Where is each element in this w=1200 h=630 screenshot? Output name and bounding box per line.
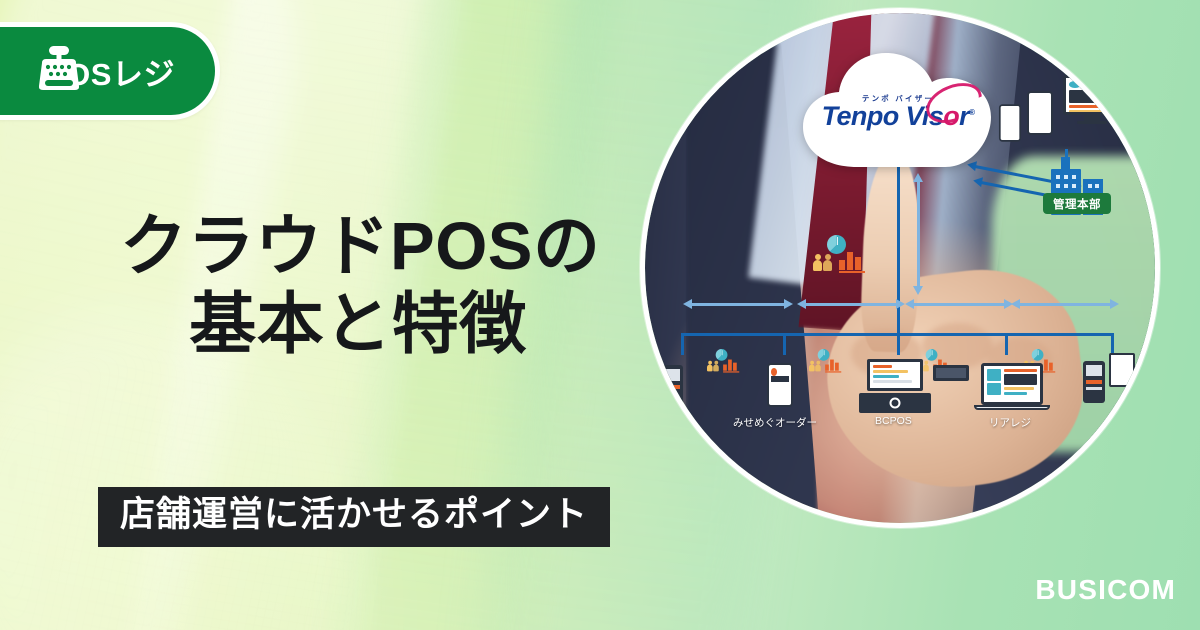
- hero-photo-circle: 管理本部: [640, 8, 1160, 528]
- diagram-trunk-line: [897, 163, 900, 335]
- device-customer-display: [933, 365, 969, 381]
- diagram-arrow-v: [917, 181, 920, 287]
- device-handheld-left: [661, 365, 683, 405]
- bar-chart-icon: [839, 251, 865, 273]
- diagram-drop-2: [783, 333, 786, 355]
- page-title-line-2: 基本と特徴: [120, 286, 640, 364]
- device-receipt-printer: [1109, 353, 1135, 387]
- hq-group: 管理本部: [1043, 141, 1111, 215]
- device-smartphone-hq-2: [1027, 91, 1053, 135]
- people-icon: [813, 253, 837, 271]
- cash-register-icon: [33, 46, 85, 96]
- bar-chart-icon: [825, 359, 841, 373]
- device-smartphone-hq-1: [999, 104, 1021, 141]
- stats-icon-cluster-main: [813, 235, 867, 275]
- page-title: クラウドPOSの 基本と特徴: [120, 208, 640, 363]
- people-icon: [809, 360, 824, 371]
- diagram-arrow-h-1: [691, 303, 785, 306]
- stats-icon-cluster-1: [707, 349, 740, 374]
- device-desktop-monitor-hq: [1063, 75, 1121, 124]
- device-laptop-real-register: [981, 363, 1050, 410]
- registered-mark: ®: [969, 108, 974, 117]
- hq-label: 管理本部: [1043, 193, 1111, 214]
- diagram-arrow-h-4: [1019, 303, 1111, 306]
- diagram-drop-1: [681, 333, 684, 355]
- diagram-arrow-h-2: [805, 303, 897, 306]
- category-badge[interactable]: POSレジ: [0, 22, 220, 120]
- device-tablet-hq: [1125, 85, 1153, 123]
- subtitle-bar: 店舗運営に活かせるポイント: [98, 487, 610, 547]
- device-label-real-register: リアレジ: [989, 415, 1031, 430]
- subtitle-text: 店舗運営に活かせるポイント: [120, 495, 588, 534]
- device-label-mobile-order: みせめぐオーダー: [733, 415, 817, 430]
- diagram-drop-5: [1111, 333, 1114, 355]
- people-icon: [707, 360, 722, 371]
- hero-photo-inner: 管理本部: [645, 13, 1155, 523]
- cloud-logo-badge: テンポ バイザー Tenpo Visor®: [797, 45, 999, 175]
- device-handheld-right: [1083, 361, 1105, 403]
- stats-icon-cluster-2: [809, 349, 842, 374]
- device-mobile-order: [767, 363, 793, 407]
- page-title-line-1: クラウドPOSの: [120, 208, 640, 286]
- brand-logo: BUSICOM: [1035, 574, 1176, 606]
- product-logo-blue-part-2: r: [959, 101, 969, 131]
- poster-canvas: POSレジ クラウドPOSの 基本と特徴 店舗運営に活かせるポイント BUSIC…: [0, 0, 1200, 630]
- diagram-drop-3: [897, 333, 900, 355]
- product-logo-blue-part: Tenpo Vis: [822, 101, 944, 131]
- diagram-drop-4: [1005, 333, 1008, 355]
- device-label-pos: BCPOS: [875, 415, 912, 427]
- diagram-arrow-h-3: [913, 303, 1005, 306]
- bar-chart-icon: [723, 359, 739, 373]
- device-pos-terminal: [867, 359, 931, 413]
